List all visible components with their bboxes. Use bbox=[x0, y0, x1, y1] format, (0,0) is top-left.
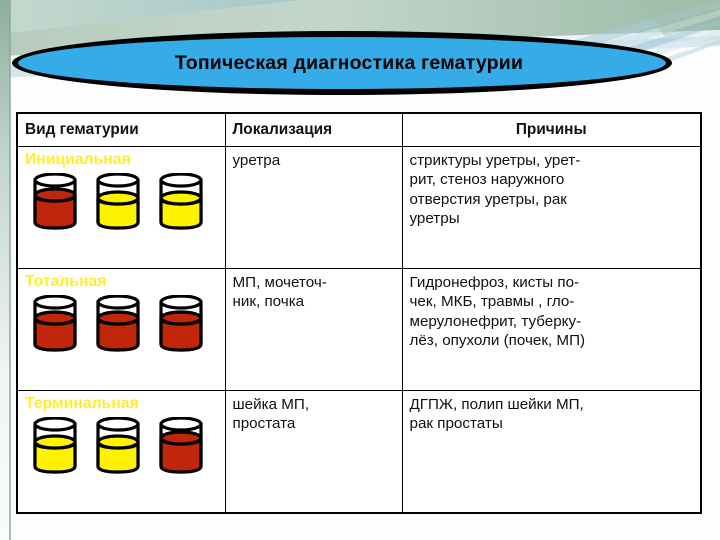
cell-causes: Гидронефроз, кисты по- чек, МКБ, травмы … bbox=[402, 268, 701, 390]
cell-localization: уретра bbox=[225, 146, 402, 268]
column-header-causes: Причины bbox=[402, 113, 701, 146]
cell-type-terminal: Терминальная bbox=[17, 390, 225, 513]
causes-text: Гидронефроз, кисты по- чек, МКБ, травмы … bbox=[410, 273, 694, 351]
hematuria-type-label: Терминальная bbox=[25, 394, 220, 414]
localization-text: шейка МП, простата bbox=[233, 395, 395, 434]
slide-title-shape: Топическая диагностика гематурии bbox=[12, 31, 672, 95]
column-header-type: Вид гематурии bbox=[17, 113, 225, 146]
glass-3-blood bbox=[154, 295, 208, 355]
three-glass-sample-terminal bbox=[25, 417, 220, 477]
hematuria-topical-diagnosis-table: Вид гематурии Локализация Причины Инициа… bbox=[16, 112, 702, 514]
column-header-localization: Локализация bbox=[225, 113, 402, 146]
cell-localization: МП, мочеточ- ник, почка bbox=[225, 268, 402, 390]
slide: Топическая диагностика гематурии Вид гем… bbox=[0, 0, 720, 540]
hematuria-type-label: Инициальная bbox=[25, 150, 220, 170]
causes-text: стриктуры уретры, урет- рит, стеноз нару… bbox=[410, 151, 694, 229]
glass-1-normal bbox=[28, 417, 82, 477]
glass-3-blood bbox=[154, 417, 208, 477]
cell-type-total: Тотальная bbox=[17, 268, 225, 390]
cell-causes: ДГПЖ, полип шейки МП, рак простаты bbox=[402, 390, 701, 513]
glass-2-normal bbox=[91, 173, 145, 233]
cell-type-initial: Инициальная bbox=[17, 146, 225, 268]
glass-1-blood bbox=[28, 295, 82, 355]
table-row: Тотальная bbox=[17, 268, 701, 390]
glass-3-normal bbox=[154, 173, 208, 233]
localization-text: МП, мочеточ- ник, почка bbox=[233, 273, 395, 312]
glass-1-blood bbox=[28, 173, 82, 233]
glass-2-blood bbox=[91, 295, 145, 355]
glass-2-normal bbox=[91, 417, 145, 477]
localization-text: уретра bbox=[233, 151, 395, 170]
cell-localization: шейка МП, простата bbox=[225, 390, 402, 513]
hematuria-type-label: Тотальная bbox=[25, 272, 220, 292]
table-header-row: Вид гематурии Локализация Причины bbox=[17, 113, 701, 146]
three-glass-sample-total bbox=[25, 295, 220, 355]
three-glass-sample-initial bbox=[25, 173, 220, 233]
causes-text: ДГПЖ, полип шейки МП, рак простаты bbox=[410, 395, 694, 434]
page-title: Топическая диагностика гематурии bbox=[161, 52, 523, 75]
table-row: Инициальная bbox=[17, 146, 701, 268]
cell-causes: стриктуры уретры, урет- рит, стеноз нару… bbox=[402, 146, 701, 268]
table-row: Терминальная bbox=[17, 390, 701, 513]
